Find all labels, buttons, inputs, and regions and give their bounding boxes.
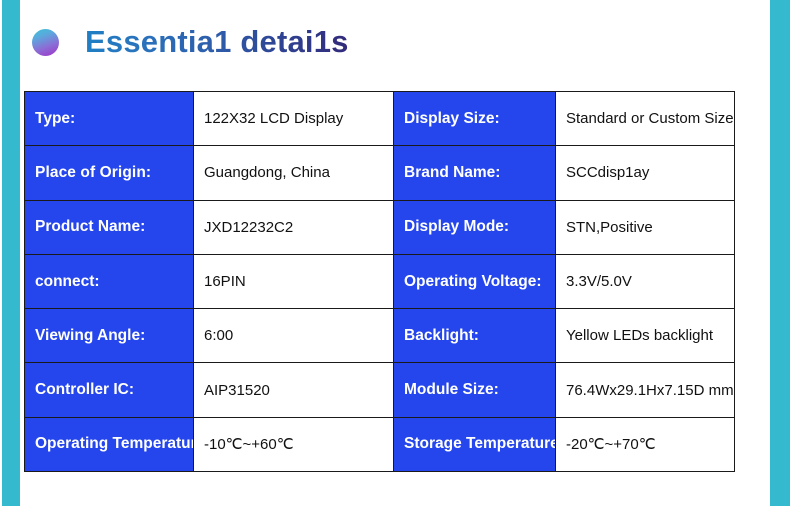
spec-label-operating-temperature: Operating Temperature bbox=[25, 417, 194, 471]
spec-value-backlight: Yellow LEDs backlight bbox=[556, 309, 735, 363]
spec-label-connect: connect: bbox=[25, 254, 194, 308]
spec-label-operating-voltage: Operating Voltage: bbox=[394, 254, 556, 308]
spec-value-product-name: JXD12232C2 bbox=[194, 200, 394, 254]
left-accent-bar bbox=[2, 0, 20, 506]
table-row: Operating Temperature -10℃~+60℃ Storage … bbox=[25, 417, 735, 471]
spec-value-place-of-origin: Guangdong, China bbox=[194, 146, 394, 200]
spec-value-storage-temperature: -20℃~+70℃ bbox=[556, 417, 735, 471]
spec-label-brand-name: Brand Name: bbox=[394, 146, 556, 200]
spec-value-display-mode: STN,Positive bbox=[556, 200, 735, 254]
spec-value-operating-voltage: 3.3V/5.0V bbox=[556, 254, 735, 308]
spec-label-product-name: Product Name: bbox=[25, 200, 194, 254]
spec-label-storage-temperature: Storage Temperature bbox=[394, 417, 556, 471]
spec-label-display-mode: Display Mode: bbox=[394, 200, 556, 254]
table-row: Place of Origin: Guangdong, China Brand … bbox=[25, 146, 735, 200]
page-root: Essentia1 detai1s Type: 122X32 LCD Displ… bbox=[0, 0, 790, 506]
spec-value-type: 122X32 LCD Display bbox=[194, 92, 394, 146]
spec-label-place-of-origin: Place of Origin: bbox=[25, 146, 194, 200]
table-row: Viewing Angle: 6:00 Backlight: Yellow LE… bbox=[25, 309, 735, 363]
right-accent-bar bbox=[770, 0, 790, 506]
table-row: Product Name: JXD12232C2 Display Mode: S… bbox=[25, 200, 735, 254]
gradient-dot-icon bbox=[32, 29, 59, 56]
spec-label-viewing-angle: Viewing Angle: bbox=[25, 309, 194, 363]
specification-table: Type: 122X32 LCD Display Display Size: S… bbox=[24, 91, 735, 472]
spec-label-controller-ic: Controller IC: bbox=[25, 363, 194, 417]
page-header: Essentia1 detai1s bbox=[32, 14, 349, 70]
spec-label-display-size: Display Size: bbox=[394, 92, 556, 146]
spec-label-backlight: Backlight: bbox=[394, 309, 556, 363]
spec-label-type: Type: bbox=[25, 92, 194, 146]
spec-label-module-size: Module Size: bbox=[394, 363, 556, 417]
table-row: connect: 16PIN Operating Voltage: 3.3V/5… bbox=[25, 254, 735, 308]
spec-value-controller-ic: AIP31520 bbox=[194, 363, 394, 417]
table-row: Type: 122X32 LCD Display Display Size: S… bbox=[25, 92, 735, 146]
spec-value-display-size: Standard or Custom Size bbox=[556, 92, 735, 146]
spec-value-connect: 16PIN bbox=[194, 254, 394, 308]
spec-value-operating-temperature: -10℃~+60℃ bbox=[194, 417, 394, 471]
page-title: Essentia1 detai1s bbox=[85, 24, 349, 60]
table-row: Controller IC: AIP31520 Module Size: 76.… bbox=[25, 363, 735, 417]
spec-value-brand-name: SCCdisp1ay bbox=[556, 146, 735, 200]
spec-value-viewing-angle: 6:00 bbox=[194, 309, 394, 363]
spec-value-module-size: 76.4Wx29.1Hx7.15D mm bbox=[556, 363, 735, 417]
